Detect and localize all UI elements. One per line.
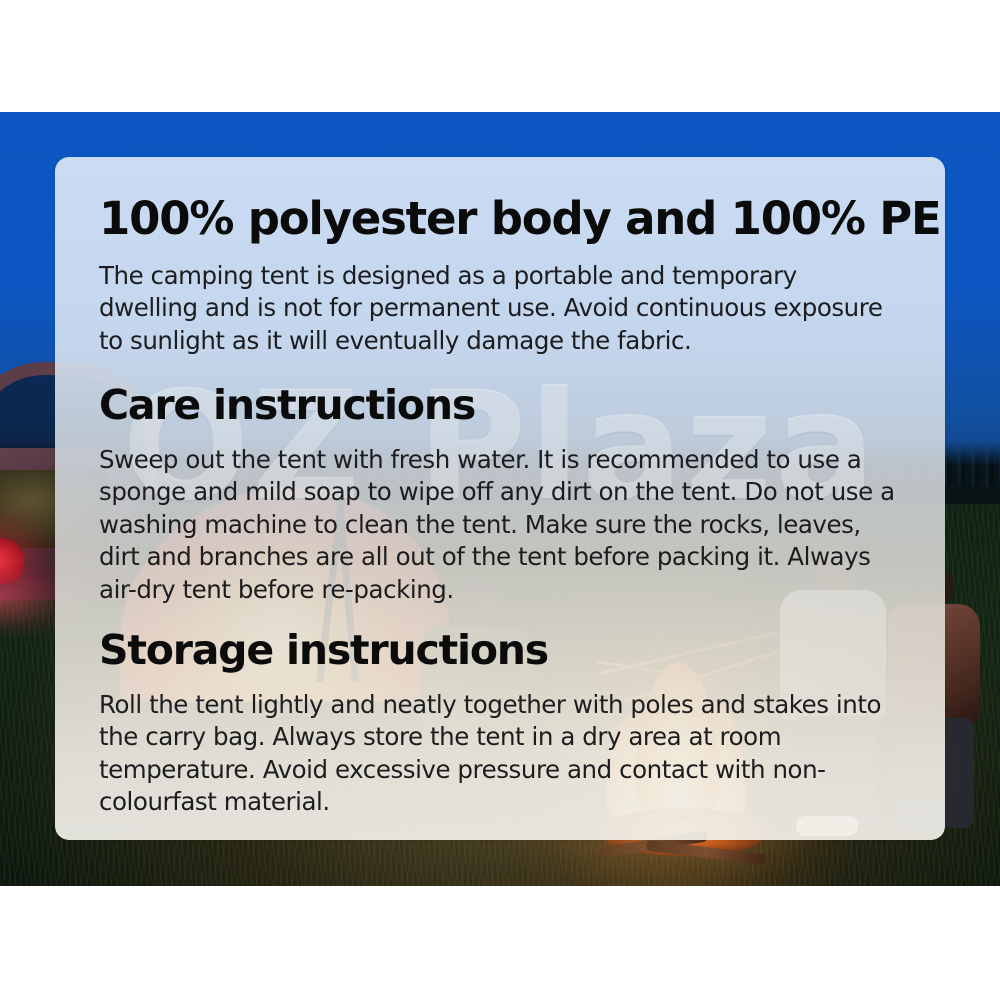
spacer bbox=[99, 606, 901, 628]
section-heading-care: Care instructions bbox=[99, 383, 901, 427]
section-body-storage: Roll the tent lightly and neatly togethe… bbox=[99, 689, 901, 819]
card-content: 100% polyester body and 100% PE floor Th… bbox=[55, 157, 945, 819]
instructions-card: OZ Plaza 100% polyester body and 100% PE… bbox=[55, 157, 945, 840]
log bbox=[646, 840, 766, 866]
product-info-graphic: OZ Plaza 100% polyester body and 100% PE… bbox=[0, 0, 1000, 1000]
section-body-care: Sweep out the tent with fresh water. It … bbox=[99, 444, 901, 607]
section-heading-storage: Storage instructions bbox=[99, 628, 901, 672]
spacer bbox=[99, 357, 901, 383]
section-body-material: The camping tent is designed as a portab… bbox=[99, 260, 901, 358]
section-heading-material: 100% polyester body and 100% PE floor bbox=[99, 195, 901, 244]
